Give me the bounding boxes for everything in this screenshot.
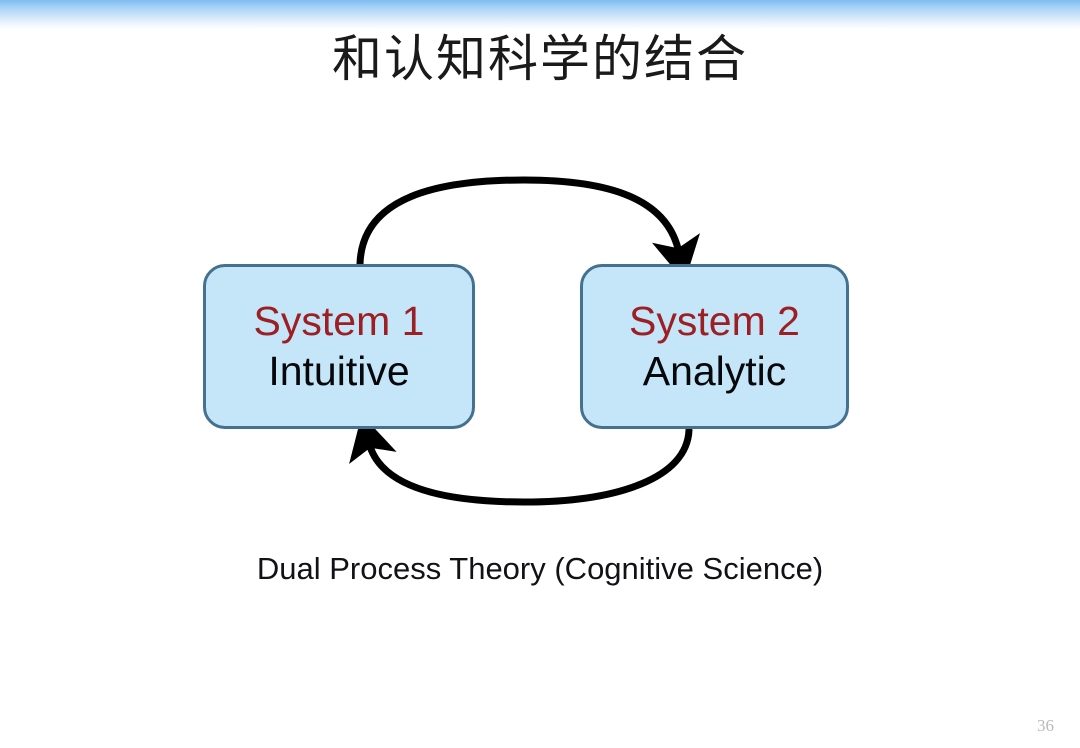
process-box-subtitle: Intuitive bbox=[268, 347, 409, 395]
diagram-caption: Dual Process Theory (Cognitive Science) bbox=[0, 548, 1080, 590]
arrow-system1-to-system2 bbox=[360, 180, 679, 264]
process-box-system-2[interactable]: System 2 Analytic bbox=[580, 264, 849, 429]
arrow-system2-to-system1 bbox=[369, 430, 689, 502]
page-number: 36 bbox=[1037, 716, 1054, 736]
dual-process-diagram: System 1 Intuitive System 2 Analytic Dua… bbox=[0, 0, 1080, 748]
process-box-title: System 1 bbox=[254, 298, 425, 345]
process-box-subtitle: Analytic bbox=[643, 347, 787, 395]
diagram-arrows bbox=[0, 0, 1080, 748]
process-box-system-1[interactable]: System 1 Intuitive bbox=[203, 264, 475, 429]
process-box-title: System 2 bbox=[629, 298, 800, 345]
